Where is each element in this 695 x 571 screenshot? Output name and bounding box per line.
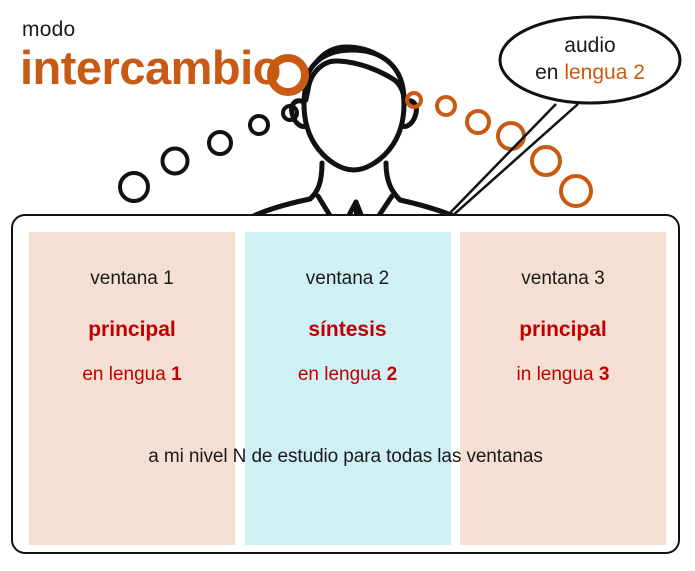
window-role-3: principal: [519, 318, 607, 342]
window-column-1[interactable]: ventana 1 principal en lengua 1: [29, 232, 235, 545]
window-role-2: síntesis: [308, 318, 386, 342]
window-language-1-prefix: en lengua: [82, 364, 171, 385]
window-language-1: en lengua 1: [82, 364, 181, 386]
orange-bubble-group: [407, 93, 591, 206]
window-label-1: ventana 1: [90, 268, 173, 290]
speech-bubble-line2-prefix: en: [535, 61, 564, 84]
window-language-2-number: 2: [387, 364, 398, 385]
window-language-3-number: 3: [599, 364, 610, 385]
speech-bubble-text: audio en lengua 2: [497, 14, 683, 106]
window-column-1-content: ventana 1 principal en lengua 1: [29, 232, 235, 386]
speech-bubble-line2-highlight: lengua 2: [564, 61, 645, 84]
window-column-2[interactable]: ventana 2 síntesis en lengua 2: [245, 232, 451, 545]
panel-footer-note: a mi nivel N de estudio para todas las v…: [13, 446, 678, 468]
window-language-3-prefix: in lengua: [517, 364, 599, 385]
speech-bubble-tail: [412, 104, 578, 215]
speech-bubble: audio en lengua 2: [497, 14, 683, 106]
window-language-2: en lengua 2: [298, 364, 397, 386]
window-language-2-prefix: en lengua: [298, 364, 387, 385]
windows-panel: ventana 1 principal en lengua 1 ventana …: [11, 214, 680, 554]
window-label-2: ventana 2: [306, 268, 389, 290]
window-label-3: ventana 3: [521, 268, 604, 290]
window-column-3[interactable]: ventana 3 principal in lengua 3: [460, 232, 666, 545]
window-language-3: in lengua 3: [517, 364, 610, 386]
speech-bubble-line1: audio: [564, 33, 615, 60]
window-role-1: principal: [88, 318, 176, 342]
window-column-2-content: ventana 2 síntesis en lengua 2: [245, 232, 451, 386]
window-column-3-content: ventana 3 principal in lengua 3: [460, 232, 666, 386]
orange-accent-bubble: [271, 58, 305, 92]
speech-bubble-line2: en lengua 2: [535, 60, 645, 87]
window-language-1-number: 1: [171, 364, 182, 385]
black-bubble-group: [120, 106, 297, 201]
windows-columns: ventana 1 principal en lengua 1 ventana …: [29, 232, 666, 545]
person-figure: [198, 47, 514, 215]
